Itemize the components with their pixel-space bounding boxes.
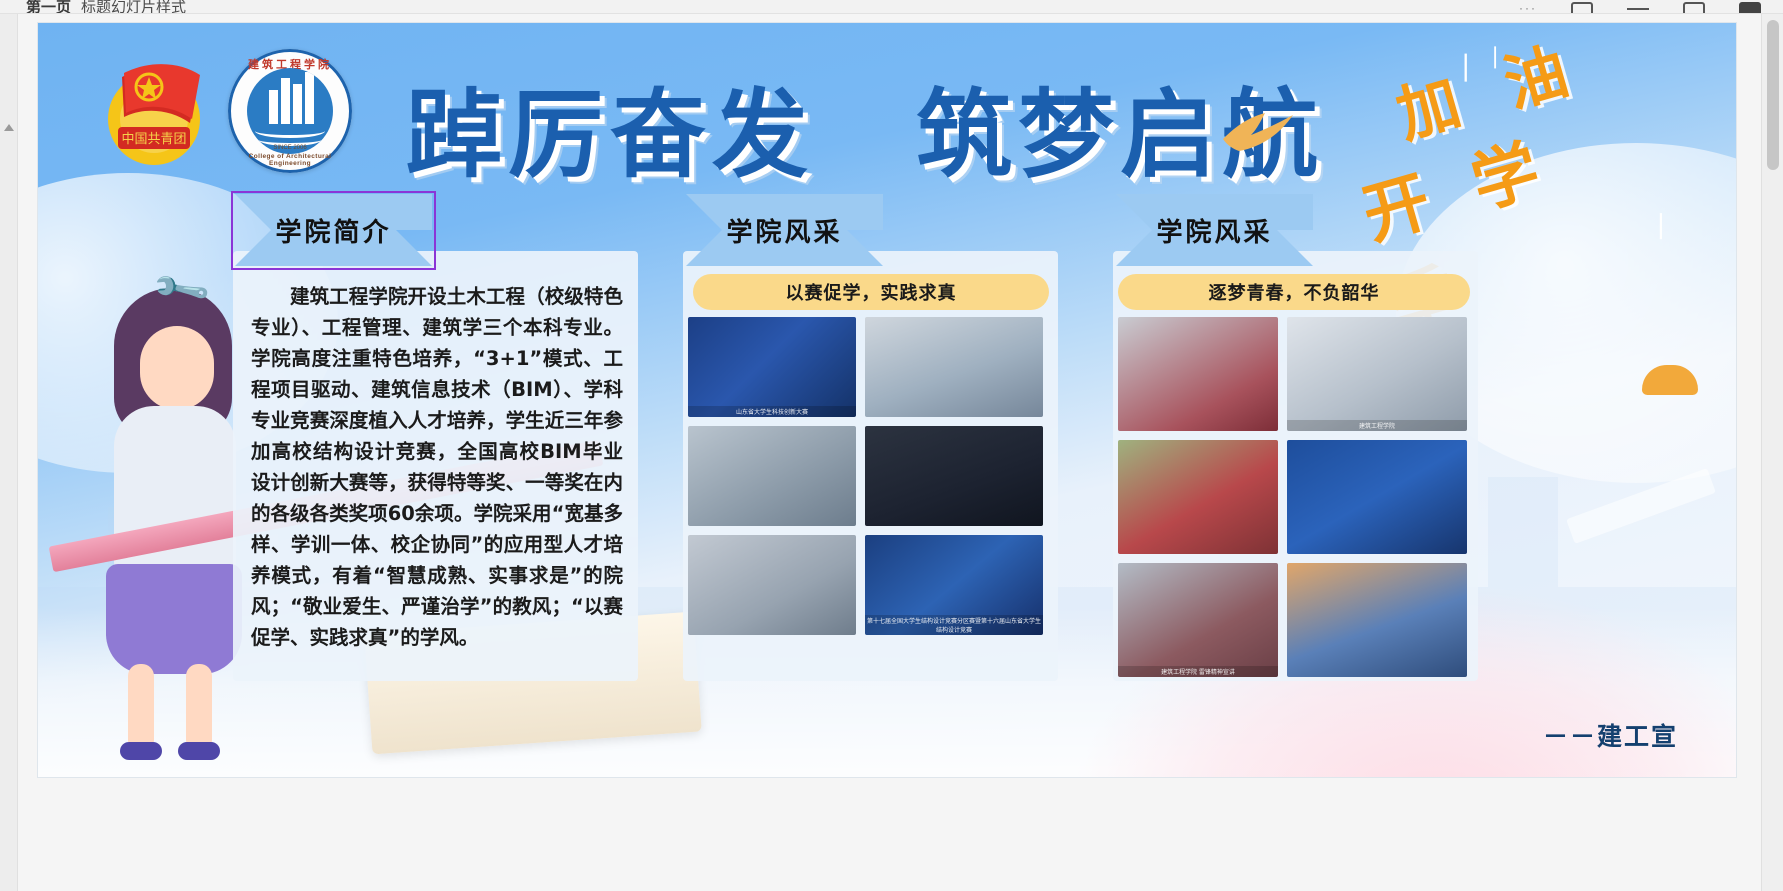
photo-teaching-studio[interactable] bbox=[688, 535, 856, 635]
poster-headline: 踔厉奋发 筑梦启航 bbox=[406, 57, 1324, 196]
photo-grid-right: 建筑工程学院 建筑工程学院 雷锋精神宣讲 bbox=[1118, 317, 1470, 677]
photo-caption: 建筑工程学院 雷锋精神宣讲 bbox=[1118, 666, 1278, 677]
college-badge-icon: 建筑工程学院 SINCE 2006 College of Architectur… bbox=[228, 49, 352, 173]
photo-student-group[interactable] bbox=[688, 426, 856, 526]
intro-body-text: 建筑工程学院开设土木工程（校级特色专业）、工程管理、建筑学三个本科专业。学院高度… bbox=[251, 281, 623, 653]
close-button[interactable] bbox=[1739, 2, 1761, 14]
slide-layout-label: 标题幻灯片样式 bbox=[81, 0, 186, 14]
maximize-button[interactable] bbox=[1683, 2, 1705, 14]
photo-caption: 第十七届全国大学生结构设计竞赛分区赛暨第十六届山东省大学生结构设计竞赛 bbox=[865, 615, 1043, 635]
photo-competition-banner[interactable]: 山东省大学生科技创新大赛 bbox=[688, 317, 856, 417]
slide-number-label: 第一页 bbox=[26, 0, 71, 14]
sparkle-icon: ❘ bbox=[1486, 43, 1504, 69]
photo-flag-team[interactable] bbox=[1287, 440, 1467, 554]
swallow-bird-icon bbox=[1221, 109, 1295, 153]
photo-caption: 建筑工程学院 bbox=[1287, 420, 1467, 431]
minimize-button[interactable] bbox=[1571, 2, 1593, 14]
overflow-dots-icon[interactable]: ··· bbox=[1519, 1, 1537, 14]
section-header-right[interactable]: 学院风采 bbox=[1116, 194, 1313, 266]
svg-text:中国共青团: 中国共青团 bbox=[121, 132, 186, 147]
college-badge-since-text: SINCE 2006 bbox=[228, 145, 352, 151]
communist-youth-league-emblem-icon: 中国共青团 bbox=[94, 53, 214, 173]
sparkle-icon: ❘ bbox=[1650, 209, 1672, 240]
photo-volunteer-meeting[interactable]: 建筑工程学院 雷锋精神宣讲 bbox=[1118, 563, 1278, 677]
photo-campus-parade[interactable]: 建筑工程学院 bbox=[1287, 317, 1467, 431]
section-banner-right: 逐梦青春，不负韶华 bbox=[1118, 274, 1470, 310]
photo-indoor-activity[interactable] bbox=[1118, 317, 1278, 431]
window-controls[interactable]: ··· bbox=[1519, 0, 1783, 13]
sparkle-icon: ❘ bbox=[1454, 49, 1477, 82]
section-header-mid[interactable]: 学院风采 bbox=[686, 194, 883, 266]
slide-canvas[interactable]: 中国共青团 建筑工程学院 SINCE 2006 College of Archi… bbox=[38, 23, 1736, 777]
photo-tug-of-war[interactable] bbox=[1118, 440, 1278, 554]
photo-caption: 山东省大学生科技创新大赛 bbox=[688, 406, 856, 417]
photo-track-field[interactable] bbox=[1287, 563, 1467, 677]
photo-grid-mid: 山东省大学生科技创新大赛 第十七届全国大学生结构设计竞赛分区赛暨第十六届山东省大… bbox=[688, 317, 1046, 635]
section-banner-mid: 以赛促学，实践求真 bbox=[693, 274, 1049, 310]
photo-model-review[interactable] bbox=[865, 317, 1043, 417]
poster-footer-signature: －－建工宣 bbox=[1543, 717, 1678, 753]
college-badge-bottom-text: College of Architectural Engineering bbox=[228, 153, 352, 167]
college-badge-inner bbox=[247, 68, 333, 154]
right-scrollbar[interactable] bbox=[1761, 14, 1783, 891]
scroll-up-icon[interactable] bbox=[4, 124, 14, 131]
scrollbar-thumb[interactable] bbox=[1767, 20, 1779, 170]
photo-award-ceremony[interactable]: 第十七届全国大学生结构设计竞赛分区赛暨第十六届山东省大学生结构设计竞赛 bbox=[865, 535, 1043, 635]
slide-workspace: 中国共青团 建筑工程学院 SINCE 2006 College of Archi… bbox=[0, 14, 1783, 891]
photo-lecture-hall[interactable] bbox=[865, 426, 1043, 526]
left-scrollbar[interactable] bbox=[0, 14, 18, 891]
application-title-bar: 第一页 标题幻灯片样式 ··· bbox=[0, 0, 1783, 14]
title-bar-left-group: 第一页 标题幻灯片样式 bbox=[0, 0, 186, 13]
